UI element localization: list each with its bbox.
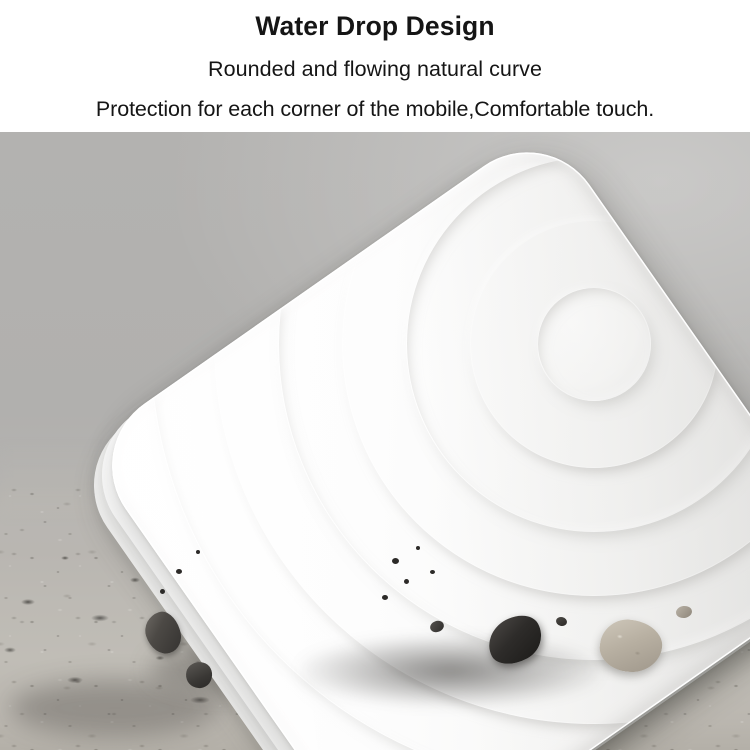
ripple-core bbox=[537, 287, 651, 401]
pebble bbox=[176, 569, 182, 574]
header-text-block: Water Drop Design Rounded and flowing na… bbox=[0, 0, 750, 132]
pebble bbox=[416, 546, 420, 550]
pebble bbox=[430, 570, 435, 574]
subtitle-line-2: Protection for each corner of the mobile… bbox=[0, 97, 750, 122]
subtitle-line-1: Rounded and flowing natural curve bbox=[0, 57, 750, 82]
product-marketing-image: Water Drop Design Rounded and flowing na… bbox=[0, 0, 750, 750]
pebble bbox=[382, 595, 388, 600]
pebble bbox=[196, 550, 200, 554]
page-title: Water Drop Design bbox=[0, 11, 750, 42]
pebble bbox=[404, 579, 409, 584]
pebble bbox=[392, 558, 399, 564]
product-photo bbox=[0, 132, 750, 750]
contact-shadow bbox=[300, 636, 600, 706]
pebble bbox=[160, 589, 165, 594]
